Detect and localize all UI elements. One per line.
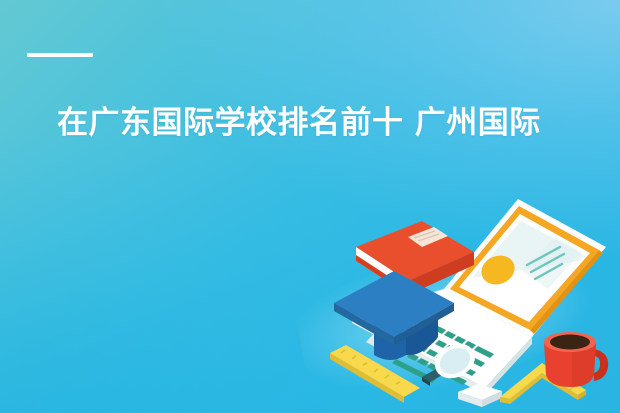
accent-rule: [27, 53, 93, 57]
eraser-icon: [458, 384, 502, 407]
page-title: 在广东国际学校排名前十 广州国际: [57, 103, 597, 143]
coffee-mug-icon: [544, 332, 608, 387]
article-cover-banner: 在广东国际学校排名前十 广州国际: [0, 0, 620, 413]
education-desk-illustration: [322, 185, 620, 413]
